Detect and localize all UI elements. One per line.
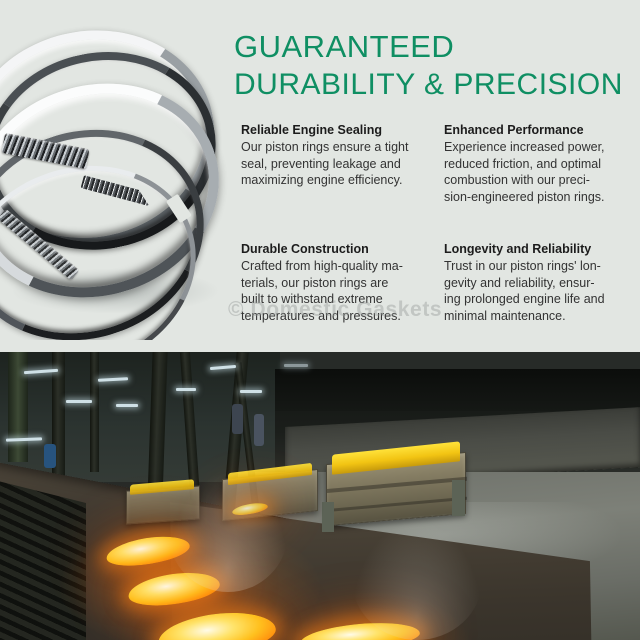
headline-line-1: GUARANTEED (234, 28, 634, 66)
ceiling-lamp (176, 388, 196, 391)
ceiling-lamp (240, 390, 262, 393)
marketing-infographic: GUARANTEED DURABILITY & PRECISION Reliab… (0, 0, 640, 640)
headline-line-2: DURABILITY & PRECISION (234, 66, 634, 104)
ceiling-lamp (66, 400, 92, 403)
structural-column (90, 352, 99, 472)
worker-silhouette (44, 444, 56, 468)
worker-silhouette (254, 414, 264, 446)
feature-body: Experience increased power, reduced fric… (444, 139, 637, 205)
feature-title: Enhanced Performance (444, 122, 637, 138)
feature-block-longevity-and-reliability: Longevity and Reliability Trust in our p… (444, 241, 637, 324)
feature-block-enhanced-performance: Enhanced Performance Experience increase… (444, 122, 637, 205)
feature-body: Our piston rings ensure a tight seal, pr… (241, 139, 444, 189)
feature-grid: Reliable Engine Sealing Our piston rings… (241, 122, 637, 324)
crate-leg (322, 502, 334, 532)
feature-title: Longevity and Reliability (444, 241, 637, 257)
top-content-panel: GUARANTEED DURABILITY & PRECISION Reliab… (0, 0, 640, 352)
crate-band (327, 497, 467, 512)
feature-title: Reliable Engine Sealing (241, 122, 444, 138)
overhead-beam (275, 369, 640, 411)
feature-title: Durable Construction (241, 241, 444, 257)
steam-plume (168, 472, 288, 592)
factory-foundry-image: /5 (0, 352, 640, 640)
feature-body: Trust in our piston rings' lon- gevity a… (444, 258, 637, 324)
feature-block-reliable-engine-sealing: Reliable Engine Sealing Our piston rings… (241, 122, 444, 205)
page-title: GUARANTEED DURABILITY & PRECISION (234, 28, 634, 104)
feature-block-durable-construction: Durable Construction Crafted from high-q… (241, 241, 444, 324)
crate-band (327, 477, 467, 493)
ceiling-lamp (284, 364, 308, 367)
worker-silhouette (232, 404, 243, 434)
crate-leg (452, 480, 465, 516)
ceiling-lamp (116, 404, 138, 407)
feature-body: Crafted from high-quality ma- terials, o… (241, 258, 444, 324)
piston-rings-product-image (0, 0, 232, 340)
steam-plume (352, 520, 482, 640)
structural-column (8, 352, 28, 462)
piston-ring-stack (0, 0, 232, 340)
